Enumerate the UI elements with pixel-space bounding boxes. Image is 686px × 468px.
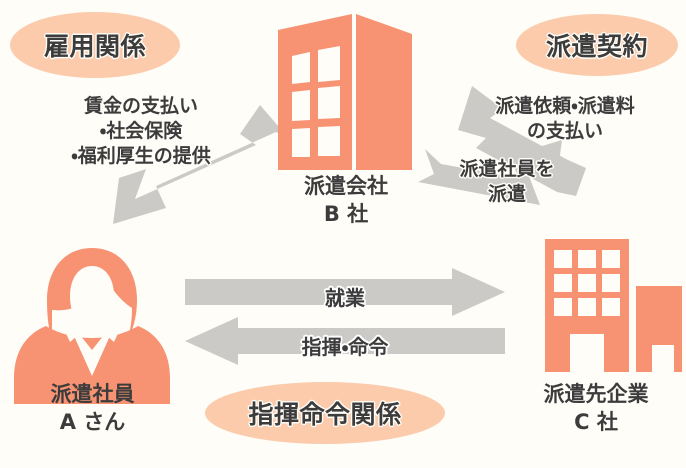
arrow-label-work: 就業: [265, 282, 425, 311]
badge-employment-relationship: 雇用関係: [10, 12, 180, 78]
label-agency-company: 派遣会社 B 社: [256, 172, 436, 228]
office-building-3d-icon: [278, 14, 412, 170]
badge-dispatch-contract: 派遣契約: [516, 14, 678, 76]
badge-employment-label: 雇用関係: [44, 27, 146, 63]
note-send-dispatch-staff: 派遣社員を 派遣: [440, 157, 574, 207]
note-wages-and-benefits: 賃金の支払い ・社会保険 ・福利厚生の提供: [26, 94, 256, 169]
note-dispatch-request-and-fee: 派遣依頼・派遣料 の支払い: [452, 94, 678, 144]
badge-dispatch-label: 派遣契約: [546, 27, 648, 63]
label-dispatch-staff: 派遣社員 A さん: [0, 380, 185, 436]
arrow-label-orders: 指揮・命令: [255, 331, 435, 360]
dispatch-relationship-diagram: 雇用関係 派遣契約 指揮命令関係 賃金の支払い ・社会保険 ・福利厚生の提供 派…: [0, 0, 686, 468]
badge-command-label: 指揮命令関係: [248, 395, 401, 431]
label-client-company: 派遣先企業 C 社: [506, 380, 686, 436]
office-building-flat-icon: [545, 239, 682, 372]
badge-command-relationship: 指揮命令関係: [205, 382, 445, 444]
